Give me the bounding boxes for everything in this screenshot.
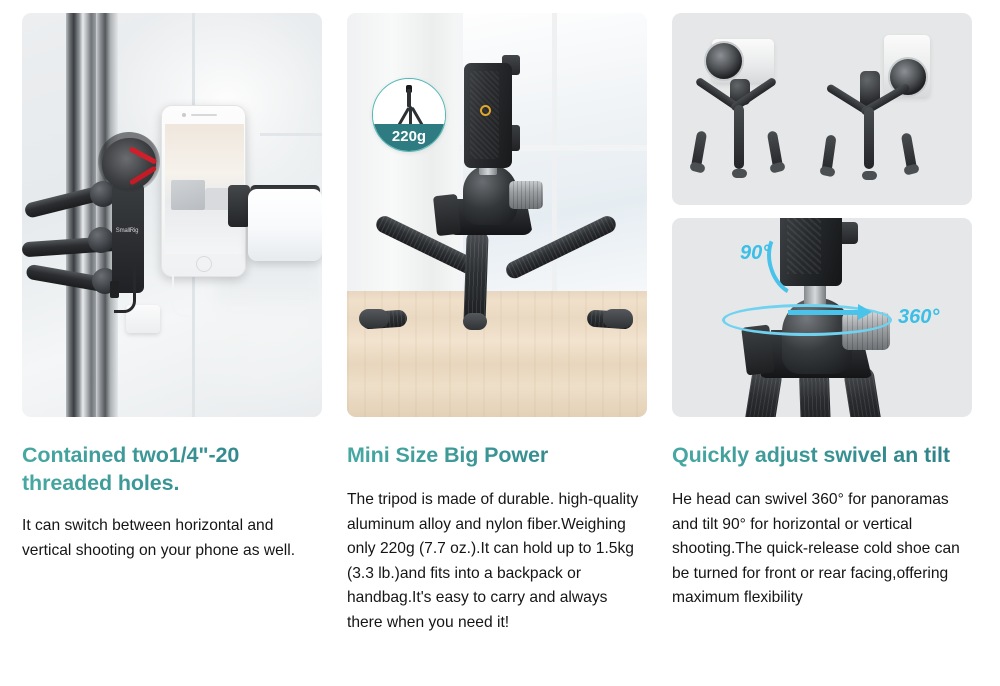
rubber-foot — [689, 161, 706, 173]
feature-body-text: The tripod is made of durable. high-qual… — [347, 488, 647, 635]
weight-badge: 220g — [372, 78, 446, 152]
product-image-tripod-on-desk: SmallRig 220g — [347, 13, 647, 417]
rubber-foot — [463, 313, 487, 330]
phone-home-button — [196, 256, 212, 272]
mounting-pole — [66, 13, 96, 417]
feature-body-text: He head can swivel 360° for panoramas an… — [672, 488, 972, 611]
phone-front-camera-icon — [182, 113, 186, 117]
thread-hole-icon — [480, 105, 491, 116]
led-light-panel — [248, 189, 322, 261]
feature-column-mini-size: SmallRig 220g Mini Size Big Power The tr… — [347, 13, 647, 673]
feature-grid: SmallRig Contained two1/4"-20 threaded h… — [0, 0, 1000, 686]
rubber-foot — [862, 171, 877, 180]
flexible-leg-center — [864, 107, 874, 169]
rubber-foot — [732, 169, 747, 178]
feature-body-text: It can switch between horizontal and ver… — [22, 514, 322, 563]
camera-lens — [704, 41, 744, 81]
tilt-angle-label: 90° — [740, 242, 770, 265]
rubber-foot — [819, 166, 836, 178]
weight-badge-label: 220g — [373, 124, 445, 151]
swivel-arrow-icon — [788, 310, 860, 315]
tripod-icon-column — [407, 89, 410, 107]
leg-joint — [88, 227, 114, 253]
accessory-clamp — [228, 185, 250, 227]
product-image-phone-rig: SmallRig — [22, 13, 322, 417]
rubber-foot — [769, 161, 786, 173]
rubber-foot — [359, 309, 389, 328]
flexible-leg-center — [734, 105, 744, 169]
feature-heading: Mini Size Big Power — [347, 441, 647, 469]
cable-plug — [110, 281, 119, 298]
window-frame-cross — [260, 133, 322, 136]
camera-tripod-panel — [672, 13, 972, 205]
locking-knob — [509, 181, 543, 209]
phone-clamp — [464, 63, 512, 168]
product-image-swivel-tilt: SmallRig 90° 360° — [672, 13, 972, 417]
rubber-foot — [903, 163, 920, 175]
feature-heading: Contained two1/4"-20 threaded holes. — [22, 441, 322, 497]
lightning-cable — [172, 275, 190, 317]
feature-column-threaded-holes: SmallRig Contained two1/4"-20 threaded h… — [22, 13, 322, 673]
brand-logo: SmallRig — [114, 227, 140, 236]
phone-speaker — [191, 114, 217, 116]
swivel-angle-label: 360° — [898, 306, 939, 329]
rubber-foot — [603, 309, 633, 328]
feature-heading: Quickly adjust swivel an tilt — [672, 441, 972, 469]
feature-column-swivel-tilt: SmallRig 90° 360° Quickly adjust swivel … — [672, 13, 972, 673]
ball-head-closeup-panel: SmallRig 90° 360° — [672, 218, 972, 417]
